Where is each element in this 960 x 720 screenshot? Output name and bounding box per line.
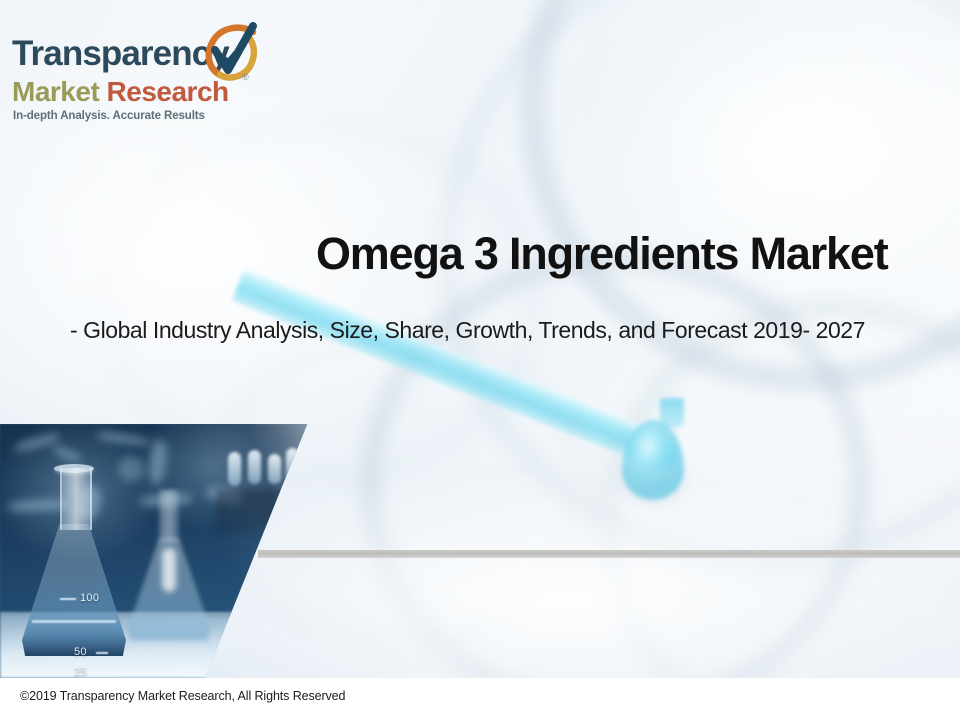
flask-body xyxy=(22,524,126,656)
test-tube-icon xyxy=(268,454,281,484)
flask-graduation-tick xyxy=(96,652,108,654)
logo-tagline: In-depth Analysis. Accurate Results xyxy=(13,110,205,122)
flask-neck xyxy=(159,490,179,542)
logo-word-market: Market xyxy=(12,76,99,107)
flask-graduation-25: 25 xyxy=(74,666,87,678)
presentation-slide: 100 50 25 Transparency Market Research I… xyxy=(0,0,960,720)
test-tube-icon xyxy=(228,452,241,486)
erlenmeyer-flask-icon: 100 50 25 xyxy=(22,468,126,656)
company-logo[interactable]: Transparency Market Research In-depth An… xyxy=(10,28,260,126)
flask-graduation-50: 50 xyxy=(74,646,87,658)
flask-graduation-tick xyxy=(60,598,76,600)
flask-liquid-level xyxy=(32,620,116,623)
page-subtitle: - Global Industry Analysis, Size, Share,… xyxy=(70,317,950,343)
flask-neck xyxy=(60,468,92,530)
copyright-footer: ©2019 Transparency Market Research, All … xyxy=(20,689,345,703)
page-title: Omega 3 Ingredients Market xyxy=(316,231,952,276)
checkmark-swoosh-icon xyxy=(195,22,269,96)
registered-trademark-symbol: ® xyxy=(242,72,249,82)
secondary-flask-icon xyxy=(128,490,210,640)
test-tube-icon xyxy=(248,450,261,484)
flask-highlight xyxy=(162,548,176,592)
divider xyxy=(258,550,960,558)
flask-graduation-100: 100 xyxy=(80,592,99,604)
